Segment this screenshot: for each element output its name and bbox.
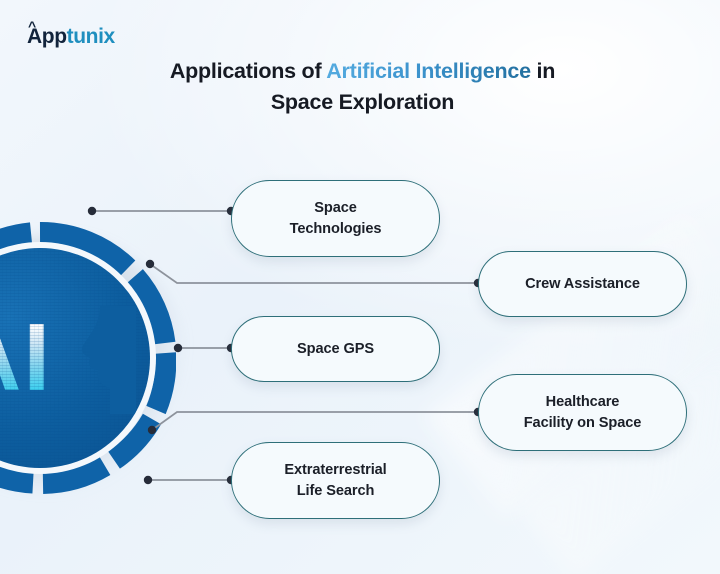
apptunix-logo[interactable]: ^Apptunix — [27, 26, 115, 47]
node-label-line: Space GPS — [297, 339, 374, 360]
emblem-ai-label: AI — [0, 308, 142, 408]
page-title: Applications of Artificial Intelligence … — [110, 56, 615, 117]
node-crew-assistance[interactable]: Crew Assistance — [478, 251, 687, 317]
node-extraterrestrial-life-search[interactable]: Extraterrestrial Life Search — [231, 442, 440, 519]
title-line-2: Space Exploration — [271, 90, 454, 114]
connector-crew-assistance — [150, 264, 478, 283]
node-label-line: Extraterrestrial — [284, 460, 386, 481]
logo-circumflex-icon: ^ — [28, 19, 36, 33]
title-highlight: Artificial Intelligence — [326, 59, 531, 83]
title-part-1: Applications of — [170, 59, 326, 83]
title-part-2: in — [531, 59, 555, 83]
ai-emblem: AI — [0, 222, 196, 494]
node-label-line: Facility on Space — [524, 413, 642, 434]
node-label-line: Space — [290, 198, 382, 219]
node-space-technologies[interactable]: Space Technologies — [231, 180, 440, 257]
connector-healthcare — [152, 412, 478, 430]
logo-text-tunix: tunix — [67, 25, 115, 48]
node-space-gps[interactable]: Space GPS — [231, 316, 440, 382]
node-label-line: Healthcare — [524, 392, 642, 413]
node-healthcare-facility-on-space[interactable]: Healthcare Facility on Space — [478, 374, 687, 451]
infographic-canvas: ^Apptunix Applications of Artificial Int… — [0, 0, 720, 574]
node-label-line: Life Search — [284, 481, 386, 502]
node-label-line: Crew Assistance — [525, 274, 640, 295]
node-label-line: Technologies — [290, 219, 382, 240]
